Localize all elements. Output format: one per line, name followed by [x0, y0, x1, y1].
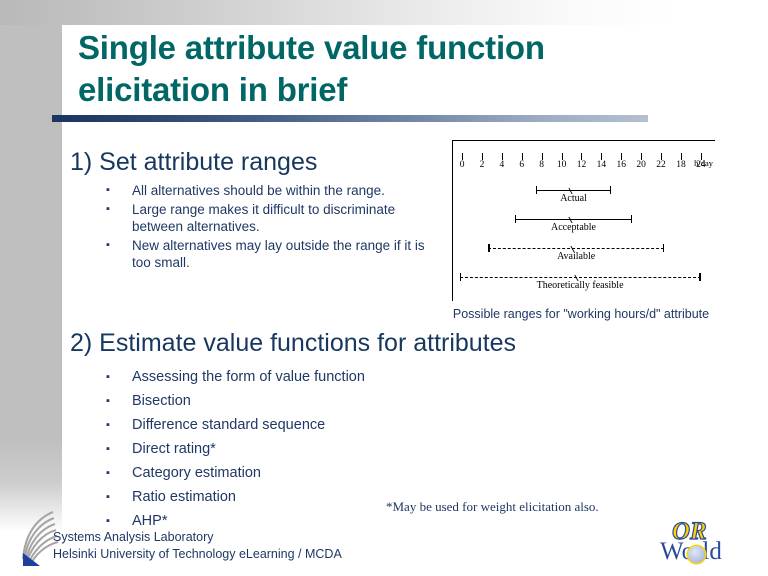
list-item-label: Difference standard sequence	[132, 413, 466, 437]
slide-canvas: Single attribute value function elicitat…	[0, 0, 768, 576]
list-item: ▪ Large range makes it difficult to disc…	[106, 201, 426, 236]
page-title: Single attribute value function elicitat…	[78, 27, 688, 111]
list-item-label: Large range makes it difficult to discri…	[132, 201, 426, 236]
axis-tick	[502, 153, 503, 160]
axis-tick	[601, 153, 602, 160]
axis-tick-label: 22	[656, 160, 666, 170]
square-bullet-icon: ▪	[106, 365, 132, 389]
range-label: Acceptable	[551, 222, 596, 233]
axis-tick-label: 0	[460, 160, 465, 170]
axis-tick	[641, 153, 642, 160]
range-right-cap	[663, 244, 664, 252]
figure-caption: Possible ranges for "working hours/d" at…	[446, 307, 716, 321]
axis-tick	[621, 153, 622, 160]
globe-icon	[688, 546, 705, 563]
square-bullet-icon: ▪	[106, 201, 132, 219]
square-bullet-icon: ▪	[106, 182, 132, 200]
range-right-cap	[631, 215, 632, 223]
list-item-label: New alternatives may lay outside the ran…	[132, 237, 426, 272]
list-item-label: Direct rating*	[132, 437, 466, 461]
axis-tick-label: 6	[519, 160, 524, 170]
square-bullet-icon: ▪	[106, 485, 132, 509]
axis-tick-label: 12	[577, 160, 587, 170]
range-label: Available	[557, 251, 595, 262]
or-world-logo: OR World	[660, 518, 756, 570]
range-bracket: Acceptable	[515, 215, 633, 237]
list-item: ▪ Assessing the form of value function	[106, 365, 466, 389]
axis-tick	[681, 153, 682, 160]
square-bullet-icon: ▪	[106, 437, 132, 461]
range-right-cap	[699, 273, 700, 281]
list-item-label: Bisection	[132, 389, 466, 413]
axis-tick-label: 20	[636, 160, 646, 170]
axis-unit-label: h/day	[694, 158, 713, 168]
axis-tick	[581, 153, 582, 160]
square-bullet-icon: ▪	[106, 413, 132, 437]
axis-tick-label: 8	[539, 160, 544, 170]
square-bullet-icon: ▪	[106, 389, 132, 413]
footer-line-1: Systems Analysis Laboratory	[53, 529, 342, 546]
range-bracket: Theoretically feasible	[460, 273, 701, 295]
axis-tick-label: 2	[480, 160, 485, 170]
title-underline-rule	[52, 115, 648, 122]
list-item: ▪ Category estimation	[106, 461, 466, 485]
list-item: ▪ Bisection	[106, 389, 466, 413]
range-bracket: Actual	[536, 186, 612, 208]
section-heading-2: 2) Estimate value functions for attribut…	[70, 329, 516, 358]
list-item-label: Assessing the form of value function	[132, 365, 466, 389]
footnote: *May be used for weight elicitation also…	[386, 499, 599, 515]
range-label: Actual	[560, 193, 587, 204]
axis-tick	[482, 153, 483, 160]
list-item-label: Category estimation	[132, 461, 466, 485]
range-bracket: Available	[488, 244, 663, 266]
axis-tick	[542, 153, 543, 160]
bullet-list-1: ▪ All alternatives should be within the …	[106, 182, 426, 273]
list-item: ▪ Difference standard sequence	[106, 413, 466, 437]
axis-tick	[462, 153, 463, 160]
list-item: ▪ Direct rating*	[106, 437, 466, 461]
footer-text: Systems Analysis Laboratory Helsinki Uni…	[53, 529, 342, 563]
footer-line-2: Helsinki University of Technology eLearn…	[53, 546, 342, 563]
axis-tick-label: 4	[499, 160, 504, 170]
range-label: Theoretically feasible	[537, 280, 624, 291]
axis-tick	[562, 153, 563, 160]
square-bullet-icon: ▪	[106, 237, 132, 255]
axis-tick-label: 14	[597, 160, 607, 170]
axis-tick-label: 18	[676, 160, 686, 170]
list-item-label: All alternatives should be within the ra…	[132, 182, 426, 200]
axis-tick-label: 10	[557, 160, 567, 170]
range-right-cap	[610, 186, 611, 194]
section-heading-1: 1) Set attribute ranges	[70, 148, 317, 177]
figure-axis: 024681012141620221824h/day	[457, 153, 711, 179]
axis-tick	[522, 153, 523, 160]
decorative-top-band	[0, 0, 768, 25]
list-item: ▪ All alternatives should be within the …	[106, 182, 426, 200]
list-item: ▪ New alternatives may lay outside the r…	[106, 237, 426, 272]
square-bullet-icon: ▪	[106, 461, 132, 485]
axis-tick-label: 16	[617, 160, 627, 170]
range-figure: 024681012141620221824h/day ActualAccepta…	[452, 140, 715, 301]
axis-tick	[661, 153, 662, 160]
